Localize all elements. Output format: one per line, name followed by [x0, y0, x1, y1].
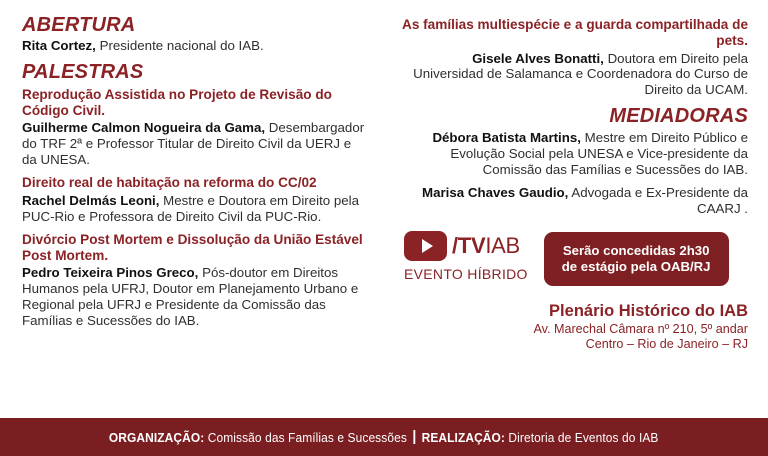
talk-speaker-1-name: Guilherme Calmon Nogueira da Gama, [22, 120, 265, 135]
footer-separator-icon [414, 430, 416, 444]
talk-title-3: Divórcio Post Mortem e Dissolução da Uni… [22, 232, 366, 264]
section-heading-abertura: ABERTURA [22, 14, 366, 36]
tv-handle-regular: IAB [485, 233, 520, 258]
badge-line-2: de estágio pela OAB/RJ [562, 259, 711, 275]
tv-handle: /TVIAB [452, 235, 520, 257]
venue-block: Plenário Histórico do IAB Av. Marechal C… [402, 302, 748, 353]
opening-speaker: Rita Cortez, Presidente nacional do IAB. [22, 38, 366, 54]
venue-title: Plenário Histórico do IAB [402, 302, 748, 322]
tv-handle-bold: /TV [452, 233, 485, 258]
youtube-play-icon[interactable] [404, 231, 447, 261]
talk-title-1: Reprodução Assistida no Projeto de Revis… [22, 87, 366, 119]
poster-columns: ABERTURA Rita Cortez, Presidente naciona… [0, 0, 768, 418]
mediator-2: Marisa Chaves Gaudio, Advogada e Ex-Pres… [402, 185, 748, 217]
badge-line-1: Serão concedidas 2h30 [562, 243, 711, 259]
footer-realization-value: Diretoria de Eventos do IAB [505, 430, 658, 445]
venue-address-line-1: Av. Marechal Câmara nº 210, 5º andar [402, 322, 748, 337]
internship-credit-badge: Serão concedidas 2h30 de estágio pela OA… [544, 232, 729, 286]
talk-speaker-2: Rachel Delmás Leoni, Mestre e Doutora em… [22, 193, 366, 225]
tv-channel-block[interactable]: /TVIAB EVENTO HÍBRIDO [402, 231, 528, 282]
section-heading-mediadoras: MEDIADORAS [402, 105, 748, 127]
talk-speaker-4: Gisele Alves Bonatti, Doutora em Direito… [402, 51, 748, 99]
footer-realization-label: REALIZAÇÃO: [422, 430, 505, 445]
mediator-1: Débora Batista Martins, Mestre em Direit… [402, 130, 748, 178]
mediator-1-name: Débora Batista Martins, [432, 130, 581, 145]
mediator-2-name: Marisa Chaves Gaudio, [422, 185, 568, 200]
event-format-label: EVENTO HÍBRIDO [404, 266, 528, 282]
media-row: /TVIAB EVENTO HÍBRIDO Serão concedidas 2… [402, 231, 748, 286]
opening-speaker-desc: Presidente nacional do IAB. [96, 38, 264, 53]
mediator-2-desc: Advogada e Ex-Presidente da CAARJ . [571, 185, 748, 216]
talk-title-4: As famílias multiespécie e a guarda comp… [402, 17, 748, 49]
event-poster: ABERTURA Rita Cortez, Presidente naciona… [0, 0, 768, 456]
talk-speaker-3: Pedro Teixeira Pinos Greco, Pós-doutor e… [22, 265, 366, 329]
footer-organization-value: Comissão das Famílias e Sucessões [205, 430, 408, 445]
talk-title-2: Direito real de habitação na reforma do … [22, 175, 366, 191]
footer-bar: ORGANIZAÇÃO: Comissão das Famílias e Suc… [0, 418, 768, 456]
right-column: As famílias multiespécie e a guarda comp… [384, 0, 768, 418]
talk-speaker-4-name: Gisele Alves Bonatti, [472, 51, 604, 66]
play-triangle-icon [422, 239, 433, 253]
opening-speaker-name: Rita Cortez, [22, 38, 96, 53]
section-heading-palestras: PALESTRAS [22, 61, 366, 83]
venue-address-line-2: Centro – Rio de Janeiro – RJ [402, 337, 748, 352]
talk-speaker-3-name: Pedro Teixeira Pinos Greco, [22, 265, 198, 280]
talk-speaker-2-name: Rachel Delmás Leoni, [22, 193, 159, 208]
tv-channel-line[interactable]: /TVIAB [404, 231, 528, 261]
footer-organization-label: ORGANIZAÇÃO: [109, 430, 204, 445]
left-column: ABERTURA Rita Cortez, Presidente naciona… [0, 0, 384, 418]
talk-speaker-1: Guilherme Calmon Nogueira da Gama, Desem… [22, 120, 366, 168]
footer-credits: ORGANIZAÇÃO: Comissão das Famílias e Suc… [109, 430, 659, 445]
